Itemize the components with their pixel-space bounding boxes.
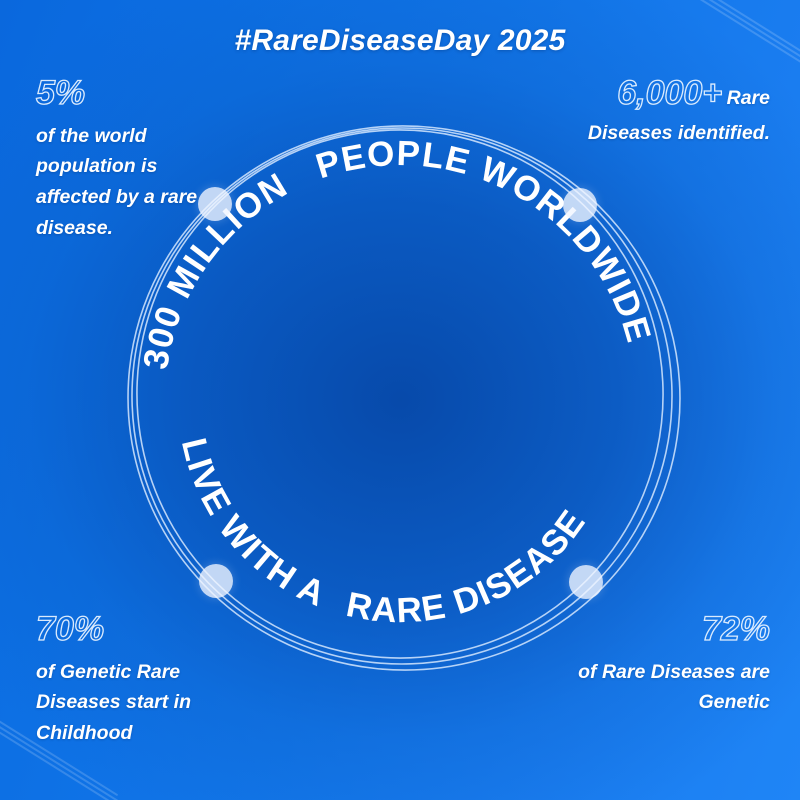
stat-text-bottom-left: of Genetic Rare Diseases start in Childh… [36,657,266,749]
arc-text-top-right: PEOPLE WORLDWIDE [311,134,658,348]
stat-block-top-right: 6,000+ Rare Diseases identified. [555,76,770,148]
arc-text-bottom-left: LIVE WITH A [174,434,332,614]
infographic-canvas: 300 MILLION PEOPLE WORLDWIDE LIVE WITH A… [0,0,800,800]
stat-block-top-left: 5% of the world population is affected b… [36,76,236,244]
stat-block-bottom-right: 72% of Rare Diseases are Genetic [570,612,770,718]
stat-text-bottom-right: of Rare Diseases are Genetic [570,657,770,719]
stat-value-top-right: 6,000+ [617,74,722,112]
stat-firstline-top-right: 6,000+ Rare [555,76,770,112]
ring-node-dot-top-right [563,188,597,222]
stat-block-bottom-left: 70% of Genetic Rare Diseases start in Ch… [36,612,266,749]
stat-value-top-left: 5% [36,76,236,112]
stat-value-bottom-right: 72% [570,612,770,648]
stat-value-bottom-left: 70% [36,612,266,648]
stat-text-top-left: of the world population is affected by a… [36,121,236,244]
stat-text-top-right: Diseases identified. [555,118,770,149]
ring-node-dot-bottom-right [569,565,603,599]
page-title: #RareDiseaseDay 2025 [0,24,800,58]
ring-node-dot-bottom-left [199,564,233,598]
arc-text-bottom-right: RARE DISEASE [343,502,593,630]
stat-inline-word-top-right: Rare [727,87,770,109]
